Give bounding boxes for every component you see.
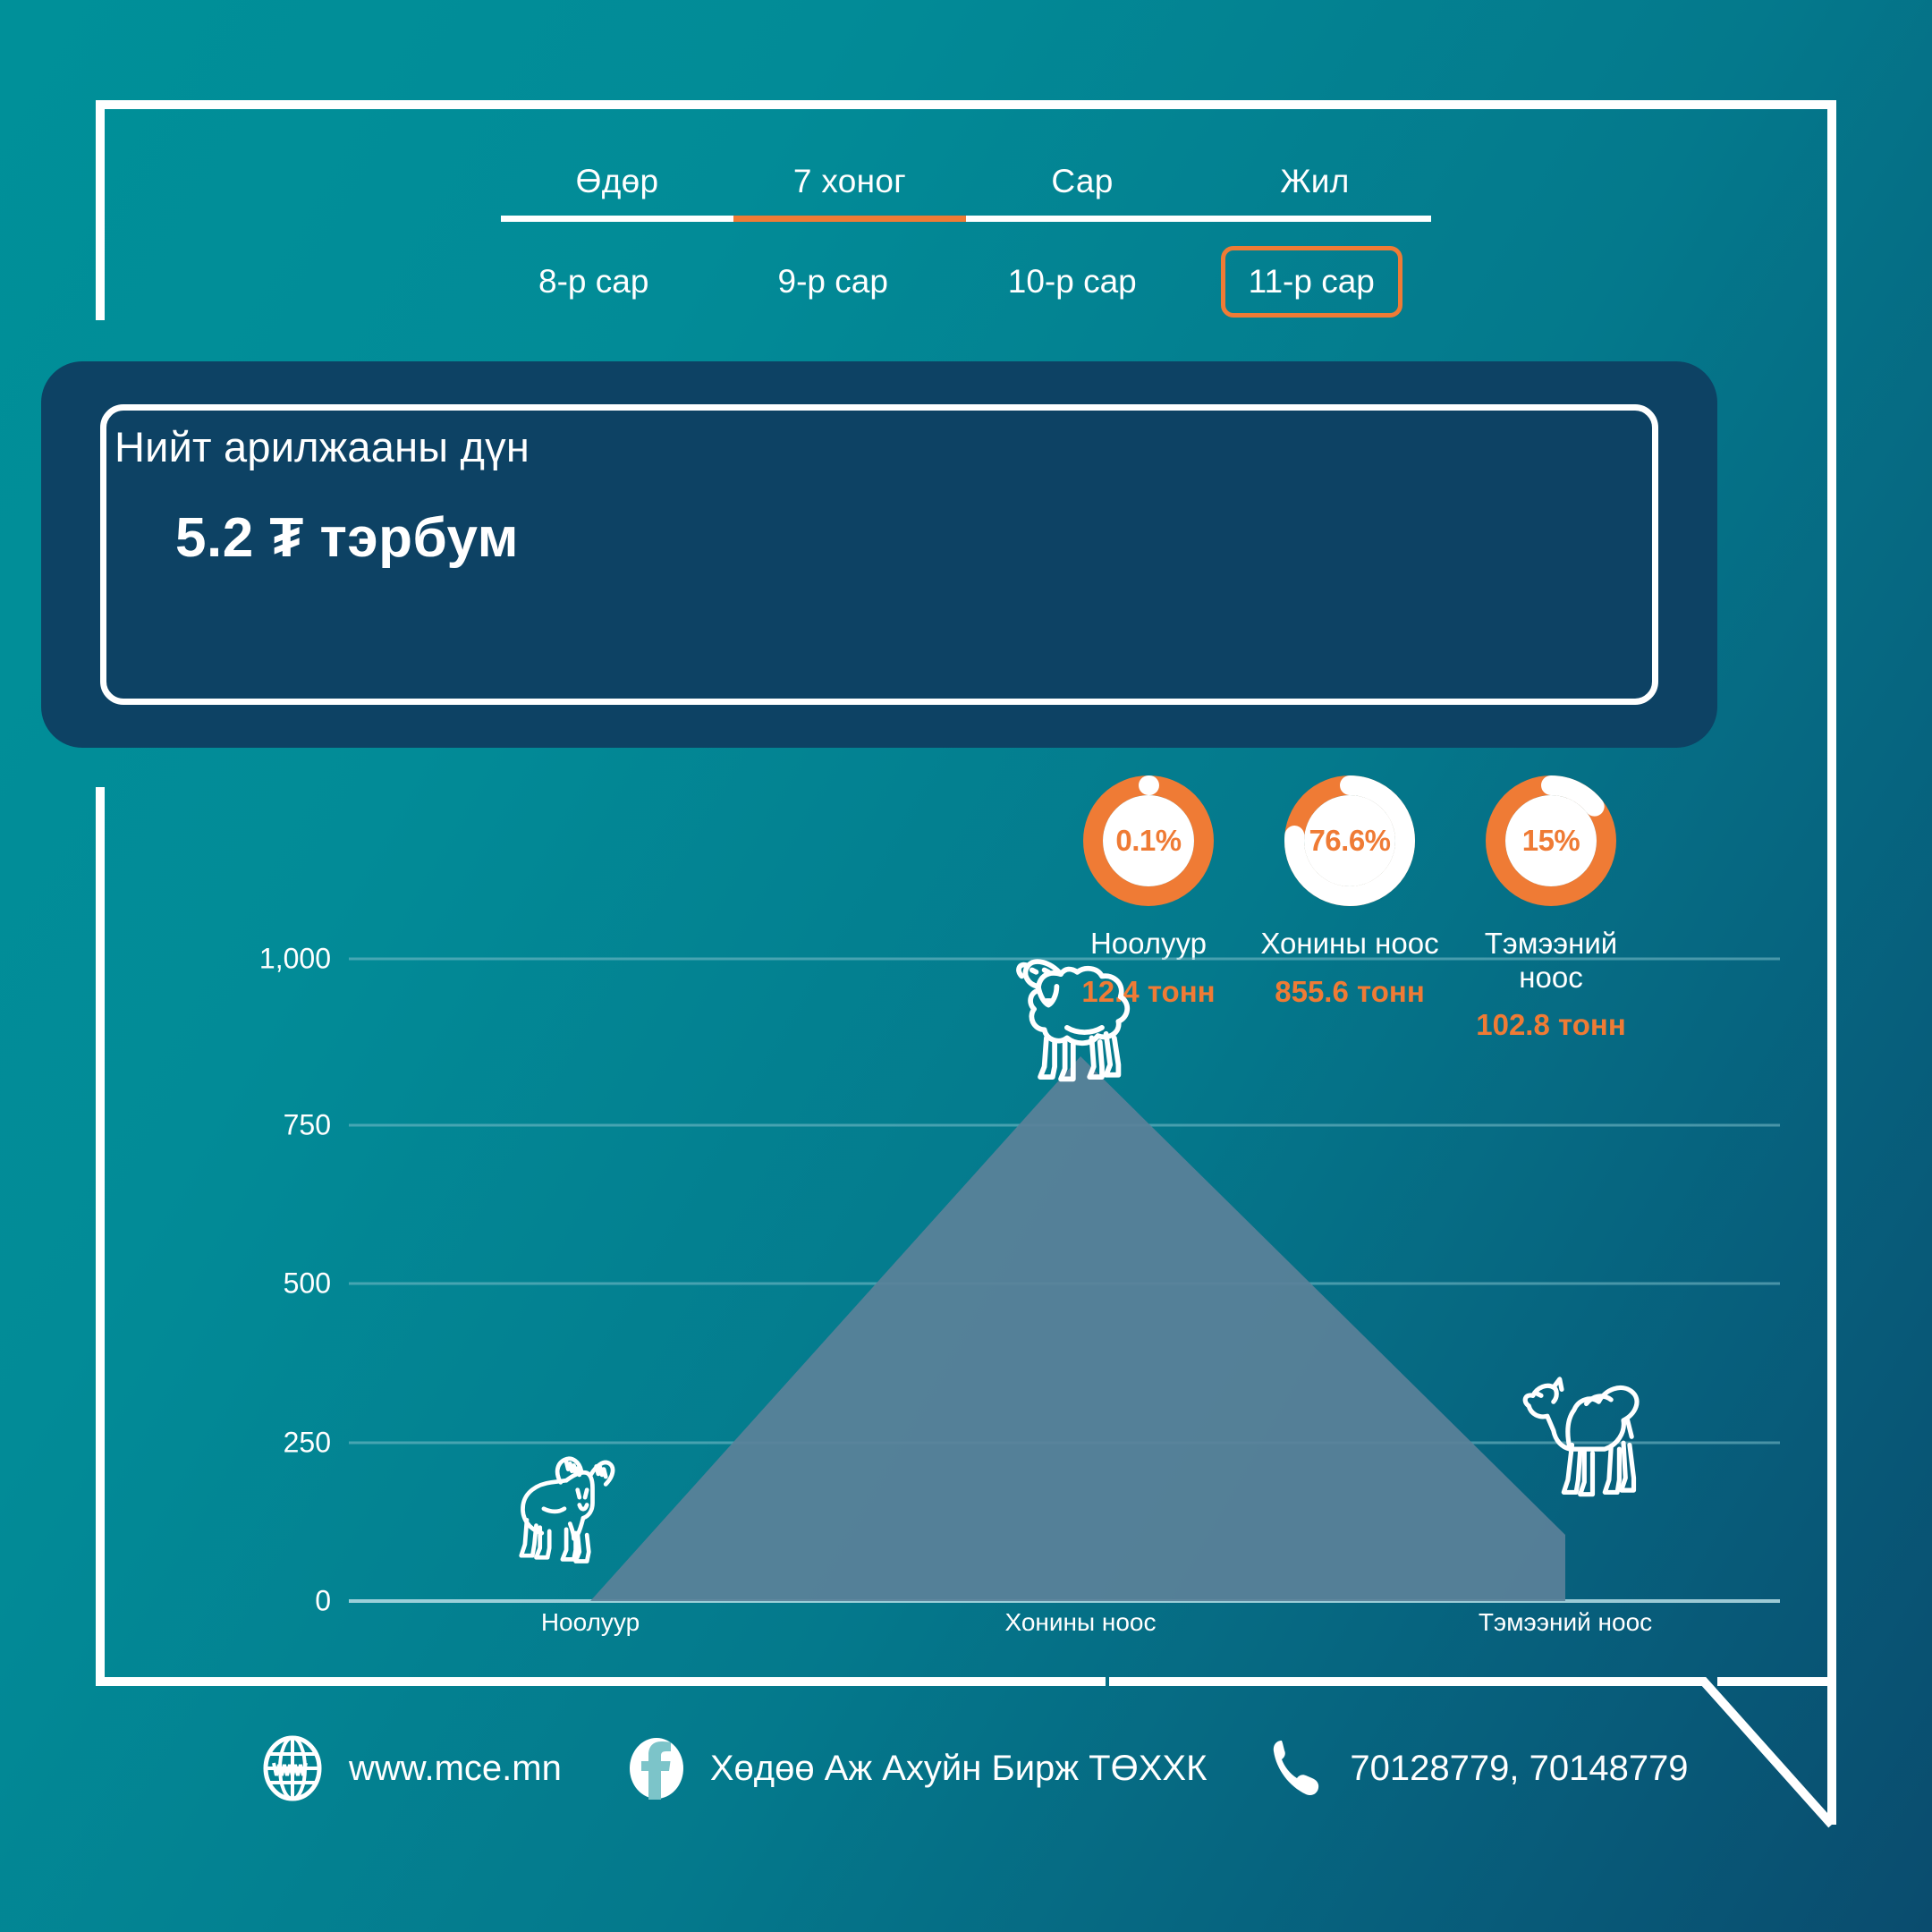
xtick-sheep-wool: Хонины ноос xyxy=(902,1608,1259,1637)
tab-day-label: Өдөр xyxy=(576,163,659,199)
donut-sheep-wool-name: Хонины ноос xyxy=(1260,927,1439,961)
month-chip-8-label: 8-р сар xyxy=(511,246,676,318)
footer-facebook-text: Хөдөө Аж Ахуйн Бирж ТӨХХК xyxy=(710,1749,1207,1789)
donut-cashmere-ring: 0.1% xyxy=(1077,769,1220,912)
summary-value: 5.2 ₮ тэрбум xyxy=(175,506,519,570)
donut-camel-wool-ring: 15% xyxy=(1479,769,1623,912)
phone-icon xyxy=(1266,1735,1326,1801)
month-chip-9-label: 9-р сар xyxy=(750,246,916,318)
donut-cashmere: 0.1% Ноолуур 12.4 тонн xyxy=(1059,769,1238,1042)
footer-bar: www.mce.mn Хөдөө Аж Ахуйн Бирж ТӨХХК 701… xyxy=(259,1735,1689,1801)
donut-camel-wool-tons: 102.8 тонн xyxy=(1462,1008,1640,1042)
summary-card: Нийт арилжааны дүн 5.2 ₮ тэрбум 0.1% Ноо… xyxy=(41,361,1717,748)
xtick-camel-wool: Тэмээний ноос xyxy=(1386,1608,1744,1637)
donut-camel-wool-name: Тэмээний ноос xyxy=(1462,927,1640,994)
tab-month[interactable]: Сар xyxy=(966,163,1199,222)
period-tab-bar[interactable]: Өдөр 7 хоног Сар Жил xyxy=(501,163,1431,222)
donut-cashmere-percent: 0.1% xyxy=(1077,824,1220,858)
ytick-250: 250 xyxy=(197,1427,331,1460)
footer-facebook[interactable]: Хөдөө Аж Ахуйн Бирж ТӨХХК xyxy=(626,1735,1207,1801)
tab-week-label: 7 хоног xyxy=(793,163,906,199)
summary-title: Нийт арилжааны дүн xyxy=(114,422,530,471)
month-chip-11-label: 11-р сар xyxy=(1221,246,1402,318)
month-chip-9[interactable]: 9-р сар xyxy=(714,246,953,318)
donut-sheep-wool-ring: 76.6% xyxy=(1278,769,1421,912)
tab-day[interactable]: Өдөр xyxy=(501,163,733,222)
globe-icon xyxy=(259,1735,326,1801)
footer-phone-text: 70128779, 70148779 xyxy=(1350,1749,1688,1789)
donut-sheep-wool: 76.6% Хонины ноос 855.6 тонн xyxy=(1260,769,1439,1042)
donut-cashmere-name: Ноолуур xyxy=(1059,927,1238,961)
footer-phone[interactable]: 70128779, 70148779 xyxy=(1266,1735,1688,1801)
month-chip-8[interactable]: 8-р сар xyxy=(474,246,714,318)
donut-cashmere-tons: 12.4 тонн xyxy=(1059,975,1238,1009)
ytick-500: 500 xyxy=(197,1267,331,1301)
infographic-page: Өдөр 7 хоног Сар Жил 8-р сар 9-р сар 10-… xyxy=(0,0,1932,1932)
donut-camel-wool: 15% Тэмээний ноос 102.8 тонн xyxy=(1462,769,1640,1042)
tab-month-label: Сар xyxy=(1051,163,1113,199)
tab-year[interactable]: Жил xyxy=(1199,163,1431,222)
xtick-cashmere: Ноолуур xyxy=(411,1608,769,1637)
footer-website[interactable]: www.mce.mn xyxy=(259,1735,562,1801)
tab-week[interactable]: 7 хоног xyxy=(733,163,966,222)
donut-sheep-wool-percent: 76.6% xyxy=(1278,824,1421,858)
tab-year-label: Жил xyxy=(1280,163,1349,199)
month-chip-10-label: 10-р сар xyxy=(980,246,1165,318)
footer-website-text: www.mce.mn xyxy=(349,1749,562,1789)
ytick-1000: 1,000 xyxy=(197,943,331,976)
ytick-0: 0 xyxy=(197,1585,331,1618)
goat-icon xyxy=(521,1459,613,1562)
facebook-icon xyxy=(626,1735,687,1801)
month-selector[interactable]: 8-р сар 9-р сар 10-р сар 11-р сар xyxy=(474,246,1431,318)
donut-camel-wool-percent: 15% xyxy=(1479,824,1623,858)
donut-group: 0.1% Ноолуур 12.4 тонн 76.6% Хонины ноос… xyxy=(1059,769,1640,1042)
area-series-path xyxy=(590,1056,1565,1601)
donut-sheep-wool-tons: 855.6 тонн xyxy=(1260,975,1439,1009)
camel-icon xyxy=(1525,1379,1637,1495)
month-chip-10[interactable]: 10-р сар xyxy=(953,246,1192,318)
ytick-750: 750 xyxy=(197,1109,331,1142)
month-chip-11[interactable]: 11-р сар xyxy=(1192,246,1432,318)
